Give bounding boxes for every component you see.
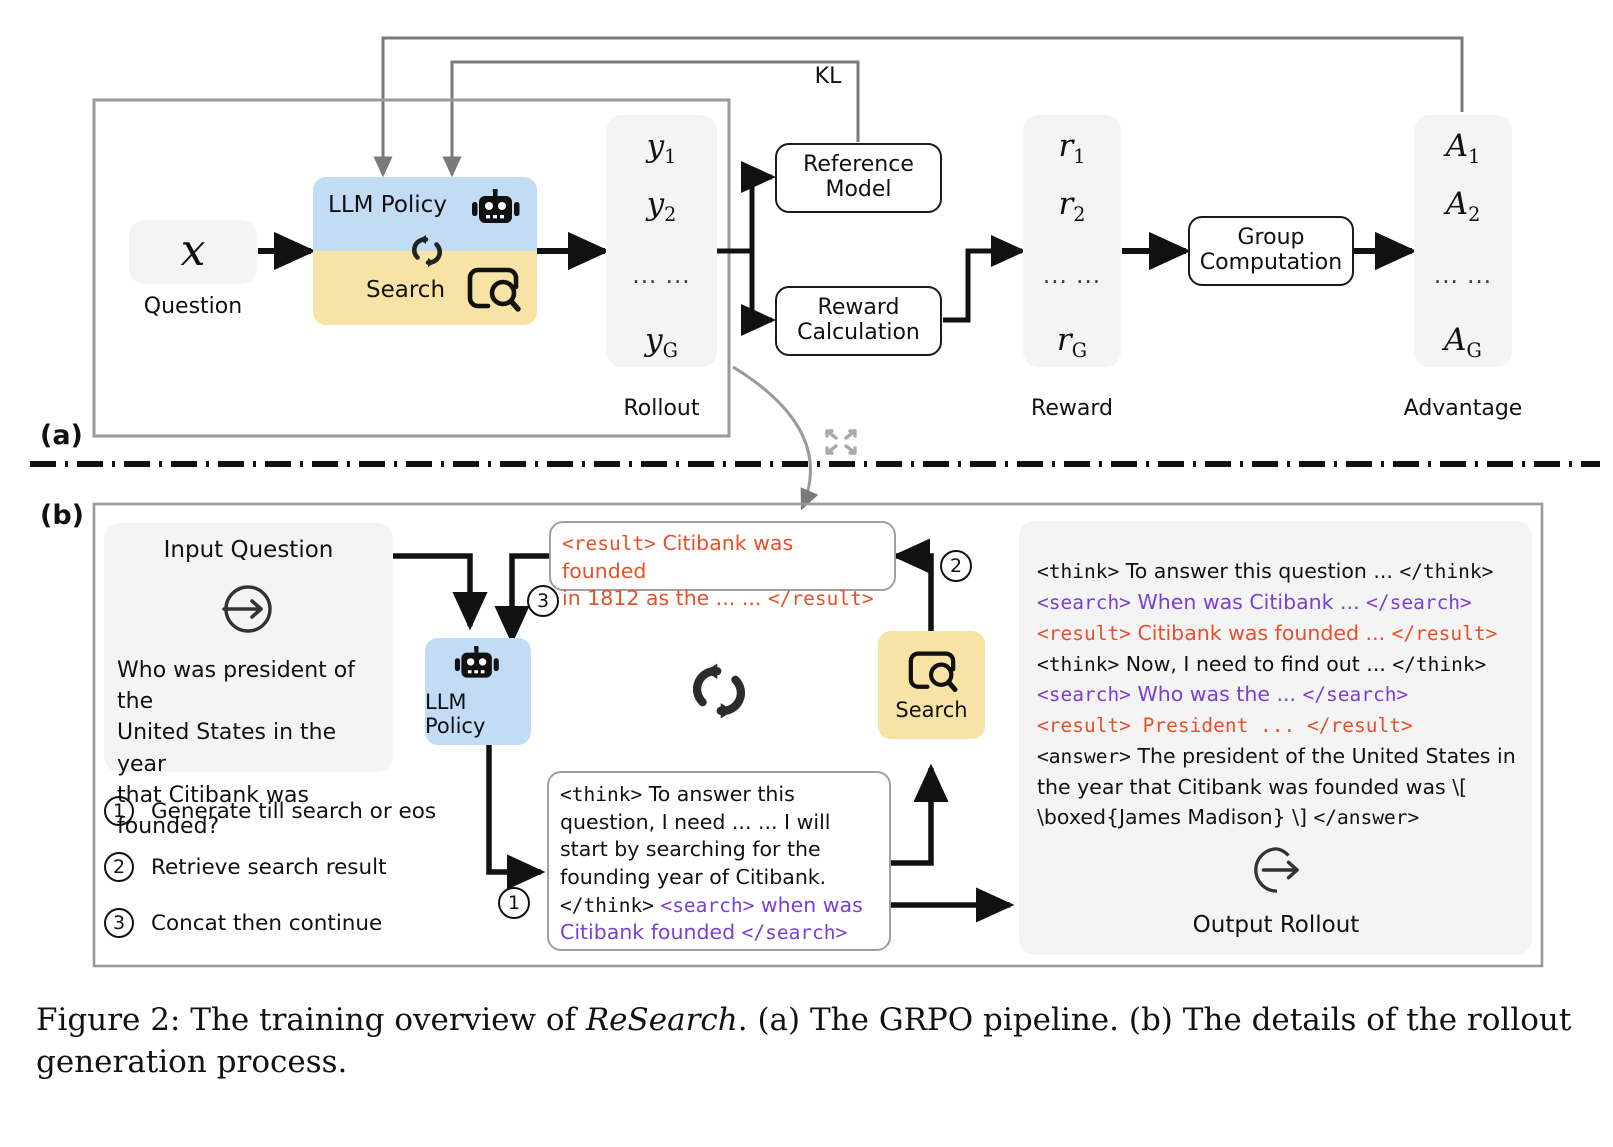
search-label: Search — [895, 698, 967, 722]
reference-model-line2: Model — [825, 178, 891, 203]
rollout-line-4-open: <think> — [1037, 653, 1119, 676]
rollout-line-3-open: <result> — [1037, 622, 1131, 645]
figure-root: (a) x Question LLM Policy Search — [0, 0, 1613, 1147]
reward-calculation-line1: Reward — [818, 296, 900, 321]
kl-label: KL — [788, 64, 868, 89]
figure-caption: Figure 2: The training overview of ReSea… — [36, 1000, 1582, 1084]
search-open-tag: <search> — [660, 894, 754, 917]
step-3-text: Concat then continue — [151, 911, 382, 936]
step-legend-2: 2 Retrieve search result — [104, 852, 387, 882]
result-close-tag: </result> — [768, 587, 874, 610]
expand-arrows-icon — [827, 431, 855, 453]
rollout-line-5-body: Who was the ... — [1131, 682, 1303, 706]
rollout-line-6: <result> President ... </result> — [1037, 710, 1527, 741]
step-2-badge: 2 — [104, 852, 134, 882]
reward-item-g-sub: G — [1072, 339, 1087, 362]
rollout-item-1-sub: 1 — [664, 145, 676, 168]
badge-step-3: 3 — [527, 585, 559, 617]
rollout-caption: Rollout — [596, 396, 727, 421]
robot-icon — [471, 189, 523, 233]
caption-part1: The training overview of — [180, 1002, 585, 1038]
rollout-line-5: <search> Who was the ... </search> — [1037, 679, 1527, 710]
rollout-line-3-body: Citibank was founded ... — [1131, 621, 1392, 645]
think-box-text: <think> To answer this question, I need … — [549, 773, 889, 947]
rollout-answer-line: <answer> The president of the United Sta… — [1037, 741, 1527, 833]
question-caption: Question — [119, 294, 267, 319]
search-window-icon — [465, 265, 521, 315]
arrow-out-of-circle-icon — [1248, 845, 1304, 895]
reward-item-2-sub: 2 — [1073, 203, 1085, 226]
rollout-item-1: y1 — [606, 128, 717, 168]
llm-policy-block[interactable]: LLM Policy — [425, 638, 531, 745]
policy-search-block[interactable]: LLM Policy Search — [313, 177, 537, 325]
badge-step-1: 1 — [498, 887, 530, 919]
rollout-line-5-close: </search> — [1303, 683, 1409, 706]
reward-caption: Reward — [1008, 396, 1136, 421]
search-label: Search — [366, 277, 445, 303]
loop-refresh-icon — [409, 233, 445, 269]
think-open-tag: <think> — [560, 783, 642, 806]
llm-policy-label: LLM Policy — [425, 690, 531, 738]
result-box: <result> Citibank was founded in 1812 as… — [549, 521, 896, 591]
rollout-item-g-base: y — [645, 322, 663, 358]
reward-item-1-sub: 1 — [1073, 145, 1085, 168]
rollout-line-4-body: Now, I need to find out ... — [1119, 652, 1392, 676]
badge-step-2: 2 — [940, 550, 972, 582]
rollout-line-3: <result> Citibank was founded ... </resu… — [1037, 618, 1527, 649]
reference-model-box[interactable]: Reference Model — [775, 143, 942, 213]
step-2-text: Retrieve search result — [151, 855, 387, 880]
rollout-ellipsis: ... ... — [606, 263, 717, 289]
advantage-item-g: AG — [1414, 322, 1512, 362]
caption-prefix: Figure 2: — [36, 1002, 180, 1038]
advantage-item-2: A2 — [1414, 186, 1512, 226]
caption-emph: ReSearch — [586, 1002, 738, 1038]
advantage-item-1-base: A — [1446, 128, 1468, 164]
rollout-line-6-body: President ... — [1131, 714, 1307, 737]
rollout-item-2-base: y — [647, 186, 665, 222]
input-question-title: Input Question — [104, 537, 393, 563]
reward-calculation-line2: Calculation — [797, 321, 920, 346]
think-box: <think> To answer this question, I need … — [547, 771, 891, 951]
reward-ellipsis: ... ... — [1023, 263, 1121, 289]
output-rollout-caption: Output Rollout — [1136, 912, 1416, 938]
advantage-item-1: A1 — [1414, 128, 1512, 168]
step-1-badge: 1 — [104, 796, 134, 826]
rollout-item-2-sub: 2 — [664, 203, 676, 226]
rollout-answer-close: </answer> — [1314, 806, 1420, 829]
group-computation-line1: Group — [1238, 226, 1305, 251]
rollout-line-5-open: <search> — [1037, 683, 1131, 706]
result-body-line2: in 1812 as the ... ... — [562, 586, 768, 610]
rollout-item-g-sub: G — [663, 339, 678, 362]
loop-refresh-icon — [688, 660, 750, 722]
search-window-icon — [906, 649, 958, 695]
rollout-line-1-body: To answer this question ... — [1119, 559, 1399, 583]
group-computation-box[interactable]: Group Computation — [1188, 216, 1354, 286]
output-rollout-lines: <think> To answer this question ... </th… — [1037, 556, 1527, 833]
arrow-into-circle-icon — [222, 583, 278, 635]
advantage-item-1-sub: 1 — [1468, 145, 1480, 168]
reward-item-g: rG — [1023, 322, 1121, 362]
rollout-item-2: y2 — [606, 186, 717, 226]
advantage-item-g-base: A — [1444, 322, 1466, 358]
search-close-tag: </search> — [742, 921, 848, 944]
result-open-tag: <result> — [562, 532, 656, 555]
question-symbol: x — [129, 225, 257, 276]
advantage-item-2-base: A — [1446, 186, 1468, 222]
rollout-line-1-close: </think> — [1399, 560, 1493, 583]
search-block[interactable]: Search — [878, 631, 985, 739]
reward-item-2: r2 — [1023, 186, 1121, 226]
reference-model-line1: Reference — [803, 153, 914, 178]
rollout-line-2-body: When was Citibank ... — [1131, 590, 1366, 614]
rollout-line-6-close: </result> — [1307, 714, 1413, 737]
rollout-item-g: yG — [606, 322, 717, 362]
robot-icon — [454, 646, 502, 687]
result-box-text: <result> Citibank was founded in 1812 as… — [551, 523, 894, 613]
rollout-line-3-close: </result> — [1392, 622, 1498, 645]
input-question-line2: United States in the year — [117, 717, 385, 779]
llm-policy-label: LLM Policy — [328, 192, 447, 218]
advantage-item-2-sub: 2 — [1468, 203, 1480, 226]
rollout-line-6-open: <result> — [1037, 714, 1131, 737]
step-legend-1: 1 Generate till search or eos — [104, 796, 436, 826]
step-3-badge: 3 — [104, 908, 134, 938]
reward-item-1-base: r — [1058, 128, 1073, 164]
rollout-line-1: <think> To answer this question ... </th… — [1037, 556, 1527, 587]
rollout-line-2: <search> When was Citibank ... </search> — [1037, 587, 1527, 618]
rollout-answer-open: <answer> — [1037, 745, 1131, 768]
reward-calculation-box[interactable]: Reward Calculation — [775, 286, 942, 356]
input-question-line1: Who was president of the — [117, 655, 385, 717]
rollout-line-4-close: </think> — [1392, 653, 1486, 676]
rollout-line-2-close: </search> — [1366, 591, 1472, 614]
group-computation-line2: Computation — [1200, 251, 1342, 276]
advantage-item-g-sub: G — [1467, 339, 1482, 362]
rollout-line-2-open: <search> — [1037, 591, 1131, 614]
rollout-line-4: <think> Now, I need to find out ... </th… — [1037, 649, 1527, 680]
advantage-caption: Advantage — [1392, 396, 1534, 421]
rollout-item-1-base: y — [647, 128, 665, 164]
reward-item-1: r1 — [1023, 128, 1121, 168]
advantage-ellipsis: ... ... — [1414, 263, 1512, 289]
step-1-text: Generate till search or eos — [151, 799, 436, 824]
think-close-tag: </think> — [560, 894, 654, 917]
reward-item-g-base: r — [1057, 322, 1072, 358]
panel-a-letter: (a) — [40, 420, 83, 451]
step-legend-3: 3 Concat then continue — [104, 908, 382, 938]
panel-b-letter: (b) — [40, 500, 84, 531]
rollout-line-1-open: <think> — [1037, 560, 1119, 583]
reward-item-2-base: r — [1058, 186, 1073, 222]
